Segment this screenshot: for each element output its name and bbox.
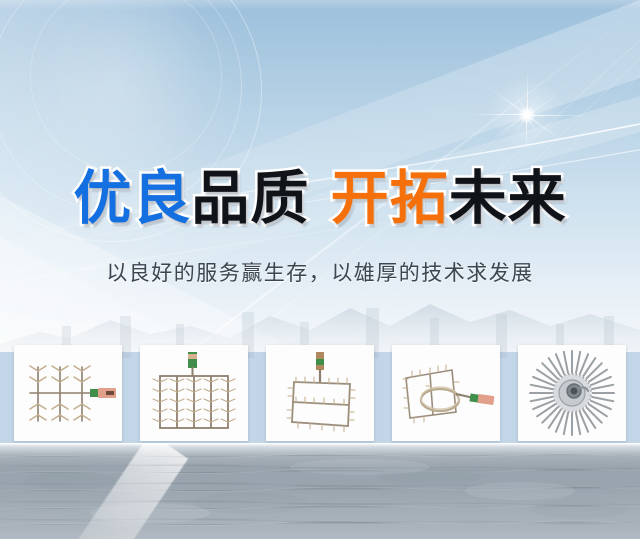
headline-spacer xyxy=(309,164,330,232)
headline-part-4: 未来 xyxy=(449,164,567,232)
double-row-spike-rack-icon xyxy=(148,350,240,436)
floor-background xyxy=(0,443,640,539)
headline-part-3: 开拓 xyxy=(331,164,449,232)
radial-sunburst-rack-icon xyxy=(527,348,617,438)
product-card-flat-frame-rack[interactable] xyxy=(266,345,374,441)
product-card-comb-tooth-hanging-rack[interactable] xyxy=(14,345,122,441)
headline: 优良品质 开拓未来 xyxy=(0,168,640,228)
floor-texture xyxy=(0,443,640,539)
subtitle: 以良好的服务赢生存，以雄厚的技术求发展 xyxy=(0,258,640,288)
product-card-radial-sunburst-rack[interactable] xyxy=(518,345,626,441)
headline-part-1: 优良 xyxy=(73,164,191,232)
product-card-double-row-spike-rack[interactable] xyxy=(140,345,248,441)
ring-plate-rack-icon xyxy=(396,354,496,432)
promo-banner: 优良品质 开拓未来 以良好的服务赢生存，以雄厚的技术求发展 xyxy=(0,0,640,539)
product-card-ring-plate-rack[interactable] xyxy=(392,345,500,441)
headline-part-2: 品质 xyxy=(191,164,309,232)
flat-frame-rack-icon xyxy=(274,350,366,436)
product-thumbnail-row xyxy=(14,345,626,441)
comb-tooth-hanging-rack-icon xyxy=(18,351,118,435)
